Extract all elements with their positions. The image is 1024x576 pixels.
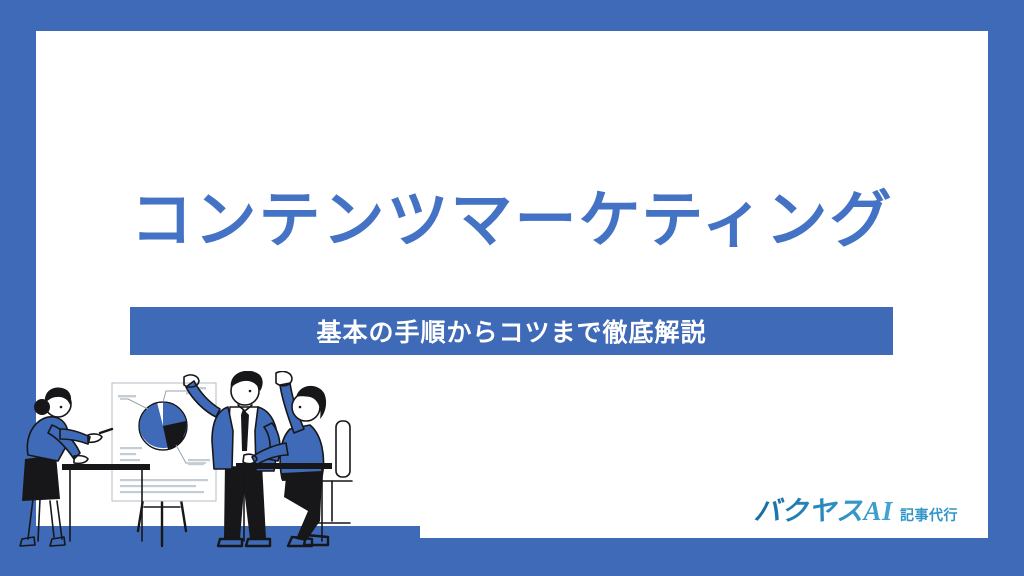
left-frame-band — [0, 371, 36, 576]
brand-logo-tagline: 記事代行 — [900, 505, 958, 525]
subtitle-banner: 基本の手順からコツまで徹底解説 — [130, 307, 893, 355]
subtitle-text: 基本の手順からコツまで徹底解説 — [316, 313, 706, 349]
slide-inner-canvas — [36, 31, 988, 538]
brand-logo: バクヤスAI 記事代行 — [753, 489, 958, 528]
brand-logo-name: バクヤスAI — [753, 489, 893, 528]
slide-canvas: コンテンツマーケティング 基本の手順からコツまで徹底解説 .ink { stro… — [0, 0, 1024, 576]
page-title: コンテンツマーケティング — [0, 185, 1024, 256]
